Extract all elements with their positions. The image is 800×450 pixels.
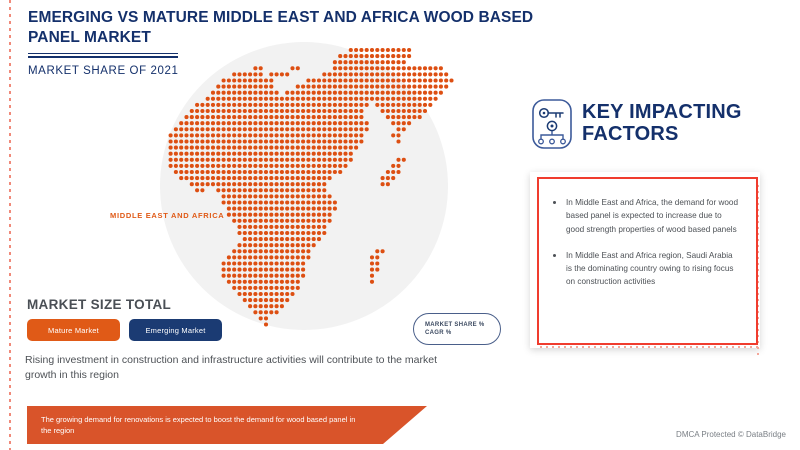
market-share-label: MARKET SHARE % [425, 322, 500, 328]
map-region-label: MIDDLE EAST AND AFRICA [110, 211, 224, 220]
legend-item-emerging-market[interactable]: Emerging Market [129, 319, 222, 341]
key-factors-box: In Middle East and Africa, the demand fo… [537, 177, 758, 345]
market-size-total-heading: MARKET SIZE TOTAL [27, 297, 171, 312]
cagr-label: CAGR % [425, 330, 500, 336]
market-description-text: Rising investment in construction and in… [25, 353, 455, 383]
legend-label-emerging: Emerging Market [145, 326, 205, 335]
list-item: In Middle East and Africa, the demand fo… [553, 196, 740, 236]
banner-text: The growing demand for renovations is ex… [27, 414, 377, 437]
slide-root: EMERGING VS MATURE MIDDLE EAST AND AFRIC… [0, 0, 800, 450]
left-dotted-rail-decoration [9, 0, 11, 450]
footer-copyright: DMCA Protected © DataBridge [676, 430, 786, 439]
legend-item-mature-market[interactable]: Mature Market [27, 319, 120, 341]
key-impacting-factors-header: KEY IMPACTING FACTORS [531, 98, 742, 150]
key-factors-dotted-bottom-edge [540, 346, 758, 348]
title-double-rule [28, 53, 178, 58]
key-network-icon [531, 98, 573, 150]
key-factors-list: In Middle East and Africa, the demand fo… [539, 179, 756, 289]
market-share-cagr-pill: MARKET SHARE % CAGR % [413, 313, 501, 345]
legend-label-mature: Mature Market [48, 326, 99, 335]
list-item: In Middle East and Africa region, Saudi … [553, 249, 740, 289]
bottom-callout-banner: The growing demand for renovations is ex… [27, 406, 427, 444]
dotted-world-map [160, 42, 460, 342]
kif-title-line2: FACTORS [582, 124, 742, 146]
key-impacting-factors-title: KEY IMPACTING FACTORS [582, 102, 742, 145]
legend-row: Mature Market Emerging Market [27, 319, 222, 341]
kif-title-line1: KEY IMPACTING [582, 102, 742, 124]
